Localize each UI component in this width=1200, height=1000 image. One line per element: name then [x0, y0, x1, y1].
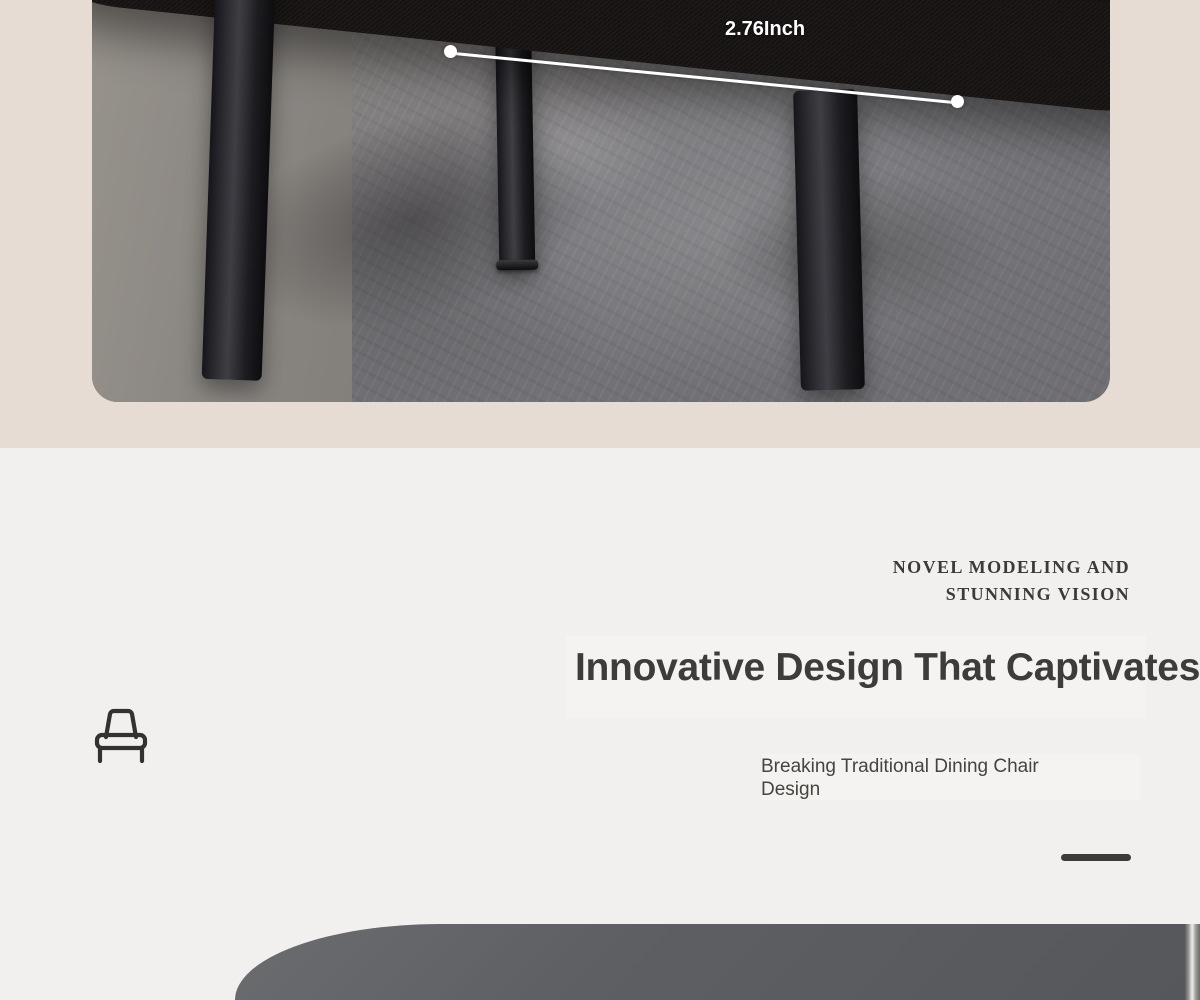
- dimension-endpoint-right: [951, 95, 964, 108]
- product-photo[interactable]: 2.76Inch: [92, 0, 1110, 402]
- hero-band: 2.76Inch: [0, 0, 1200, 448]
- eyebrow-text: NOVEL MODELING AND STUNNING VISION: [610, 554, 1130, 608]
- chair-foot-cap: [496, 260, 538, 271]
- dimension-endpoint-left: [444, 45, 457, 58]
- product-detail-page: 2.76Inch NOVEL MODELING AND STUNNING VIS…: [0, 0, 1200, 1000]
- panel-right-edge-strip: [1185, 924, 1200, 1000]
- bottom-dark-panel: [235, 924, 1185, 1000]
- page-subtext: Breaking Traditional Dining Chair Design: [761, 755, 1081, 801]
- chair-leg-right: [793, 89, 865, 391]
- eyebrow-line-1: NOVEL MODELING AND: [610, 554, 1130, 581]
- dimension-label: 2.76Inch: [725, 18, 805, 41]
- eyebrow-line-2: STUNNING VISION: [610, 581, 1130, 608]
- chair-icon: [94, 706, 148, 764]
- accent-rule: [1061, 854, 1131, 861]
- page-headline: Innovative Design That Captivates the Ey…: [575, 646, 1200, 690]
